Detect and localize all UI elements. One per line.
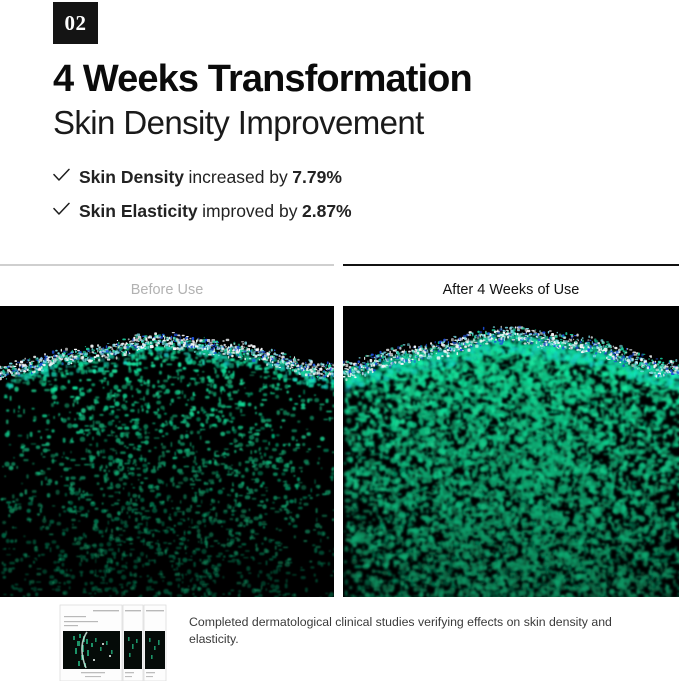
metric-name: Skin Density	[79, 169, 184, 187]
check-icon	[53, 202, 70, 216]
check-icon	[53, 168, 70, 182]
metric-value: 2.87%	[302, 203, 352, 221]
footer-caption: Completed dermatological clinical studie…	[189, 603, 649, 647]
before-label: Before Use	[0, 264, 334, 306]
metric-value: 7.79%	[292, 169, 342, 187]
list-item: Skin Elasticity improved by 2.87%	[53, 203, 679, 221]
header-section: 02 4 Weeks Transformation Skin Density I…	[0, 2, 679, 220]
ultrasound-image-before	[0, 306, 334, 597]
section-number-badge: 02	[53, 2, 98, 44]
metric-name: Skin Elasticity	[79, 203, 198, 221]
page-title: 4 Weeks Transformation	[53, 60, 679, 100]
ultrasound-image-after	[343, 306, 679, 597]
clinical-study-report-thumbnail	[57, 603, 169, 681]
comparison-labels-row: Before Use After 4 Weeks of Use	[0, 264, 679, 306]
metric-verb: increased by	[189, 169, 288, 187]
metric-verb: improved by	[202, 203, 297, 221]
label-divider	[334, 264, 343, 306]
footer-section: Completed dermatological clinical studie…	[0, 603, 679, 681]
comparison-images-row	[0, 306, 679, 597]
results-bullet-list: Skin Density increased by 7.79% Skin Ela…	[53, 169, 679, 220]
after-label: After 4 Weeks of Use	[343, 264, 679, 306]
list-item: Skin Density increased by 7.79%	[53, 169, 679, 187]
page-subtitle: Skin Density Improvement	[53, 105, 679, 141]
image-divider	[334, 306, 343, 597]
